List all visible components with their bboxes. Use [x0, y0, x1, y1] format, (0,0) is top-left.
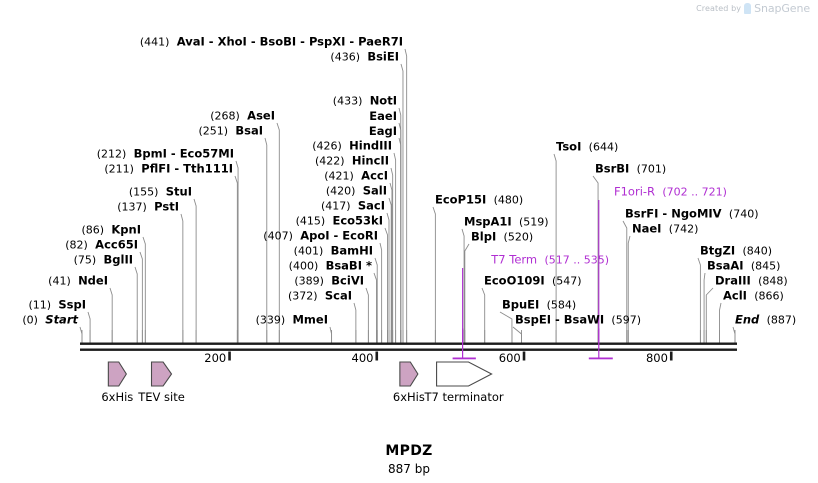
feature-arrow-6xhis-2[interactable] [400, 362, 418, 386]
restriction-site-label-bsrbi[interactable]: BsrBI (701) [595, 163, 666, 176]
enzyme-name: PstI [154, 200, 179, 214]
restriction-site-label-stui[interactable]: (155) StuI [129, 186, 192, 199]
enzyme-name: SalI [363, 184, 387, 198]
enzyme-name: HincII [352, 154, 389, 168]
enzyme-name: BsrBI [595, 162, 629, 176]
enzyme-name: ScaI [325, 289, 352, 303]
enzyme-name: StuI [166, 185, 192, 199]
feature-arrow-6xhis-1[interactable] [108, 362, 126, 386]
leader-line-naei [628, 236, 630, 343]
feature-range: (702 .. 721) [662, 186, 727, 199]
enzyme-name: MspA1I [464, 215, 512, 229]
leader-line-kpni [143, 237, 145, 343]
site-position: (433) [333, 95, 363, 108]
enzyme-name: BlpI [471, 230, 496, 244]
site-position: (436) [330, 51, 360, 64]
restriction-site-label-btgzi[interactable]: BtgZI (840) [700, 245, 772, 258]
site-position: (740) [729, 208, 759, 221]
ruler-tick-200 [228, 352, 231, 361]
enzyme-name: PaeR7I [358, 35, 403, 49]
enzyme-name: AseI [247, 109, 275, 123]
leader-line-bspei [513, 327, 522, 343]
site-position: (597) [611, 314, 641, 327]
site-position: (75) [74, 254, 97, 267]
leader-line-ecop15i [433, 207, 435, 343]
leader-line-blpi [465, 244, 469, 343]
site-position: (547) [552, 275, 582, 288]
enzyme-name: SspI [58, 298, 86, 312]
backbone-bottom-strand [80, 349, 737, 351]
leader-line-bsiei [401, 64, 403, 343]
site-position: (701) [637, 163, 667, 176]
restriction-site-label-tsoi[interactable]: TsoI (644) [556, 141, 618, 154]
site-position: (211) [104, 163, 134, 176]
restriction-site-label-eaei[interactable]: EaeI [369, 110, 397, 122]
leader-line-avai [405, 49, 407, 343]
site-position: (480) [494, 194, 524, 207]
enzyme-name: EcoP15I [435, 193, 486, 207]
enzyme-name: Start [45, 313, 78, 327]
enzyme-separator: - [205, 35, 218, 49]
site-position: (407) [263, 230, 293, 243]
enzyme-name: BciVI [331, 274, 364, 288]
enzyme-name: SacI [358, 199, 385, 213]
leader-line-bpuei [500, 312, 512, 343]
backbone-top-strand [80, 343, 737, 345]
restriction-site-label-blpi[interactable]: BlpI (520) [471, 231, 533, 244]
restriction-site-label-bcivi[interactable]: (389) BciVI [294, 275, 364, 288]
restriction-site-label-hincii[interactable]: (422) HincII [315, 155, 389, 168]
restriction-site-label-avai[interactable]: (441) AvaI - XhoI - BsoBI - PspXI - PaeR… [140, 36, 403, 49]
enzyme-name: BglII [104, 253, 134, 267]
restriction-site-label-mmei[interactable]: (339) MmeI [256, 314, 328, 327]
leader-line-btgzi [698, 258, 700, 343]
ruler-label-200: 200 [204, 351, 226, 365]
enzyme-separator: - [170, 162, 183, 176]
enzyme-name: BsaAI [707, 259, 744, 273]
restriction-site-label-draiii[interactable]: DraIII (848) [715, 275, 788, 288]
site-position: (251) [198, 125, 228, 138]
site-position: (389) [294, 275, 324, 288]
restriction-site-label-bsabi[interactable]: (400) BsaBI * [289, 260, 372, 273]
enzyme-name: PspXI [309, 35, 345, 49]
ruler-tick-600 [523, 352, 526, 361]
feature-arrow-label-t7-terminator: T7 terminator [425, 390, 504, 404]
restriction-site-label-mspa1i[interactable]: MspA1I (519) [464, 216, 549, 229]
enzyme-separator: - [330, 229, 343, 243]
restriction-site-label-start[interactable]: (0) Start [22, 314, 78, 327]
restriction-site-label-bsaai[interactable]: BsaAI (845) [707, 260, 780, 273]
restriction-site-label-kpni[interactable]: (86) KpnI [81, 224, 141, 237]
site-position: (212) [97, 148, 127, 161]
construct-name: MPDZ [385, 443, 432, 459]
site-position: (420) [326, 185, 356, 198]
site-position: (845) [751, 260, 781, 273]
enzyme-name: Acc65I [95, 238, 138, 252]
enzyme-name: EcoO109I [484, 274, 545, 288]
site-position: (155) [129, 186, 159, 199]
enzyme-name: AvaI [177, 35, 205, 49]
site-position: (401) [294, 245, 324, 258]
ruler-label-400: 400 [352, 351, 374, 365]
purple-feature-bracket-t7-term[interactable] [453, 358, 476, 360]
enzyme-name: AclI [723, 289, 747, 303]
enzyme-name: BsaWI [564, 313, 604, 327]
enzyme-name: Eco57MI [180, 147, 234, 161]
enzyme-name: BtgZI [700, 244, 735, 258]
leader-line-apoi [380, 243, 382, 343]
site-position: (41) [48, 275, 71, 288]
site-position: (372) [288, 290, 318, 303]
restriction-site-label-sspi[interactable]: (11) SspI [28, 299, 86, 312]
enzyme-name: NgoMIV [671, 207, 721, 221]
site-position: (422) [315, 155, 345, 168]
enzyme-name: AccI [361, 169, 388, 183]
enzyme-name: HindIII [349, 139, 392, 153]
feature-label-t7-term[interactable]: T7 Term (517 .. 535) [491, 254, 609, 267]
enzyme-separator: - [551, 313, 564, 327]
site-position: (742) [669, 223, 699, 236]
enzyme-name: BsrFI [625, 207, 658, 221]
site-position: (82) [65, 239, 88, 252]
enzyme-name: BspEI [515, 313, 551, 327]
enzyme-name: BsoBI [260, 35, 297, 49]
enzyme-name: NdeI [78, 274, 108, 288]
restriction-site-label-asei[interactable]: (268) AseI [210, 110, 275, 123]
enzyme-name: TsoI [556, 140, 581, 154]
enzyme-name: Eco53kI [332, 214, 383, 228]
ruler-label-600: 600 [499, 351, 521, 365]
restriction-site-label-noti[interactable]: (433) NotI [333, 95, 397, 108]
enzyme-name: NaeI [632, 222, 661, 236]
feature-name: T7 Term [491, 253, 537, 267]
enzyme-name: NotI [370, 94, 397, 108]
restriction-site-label-ndei[interactable]: (41) NdeI [48, 275, 108, 288]
restriction-site-label-eco53ki[interactable]: (415) Eco53kI [296, 215, 383, 228]
site-position: (11) [28, 299, 51, 312]
enzyme-name: BsiEI [367, 50, 399, 64]
leader-line-stui [194, 199, 196, 343]
enzyme-name: BpmI [134, 147, 167, 161]
enzyme-name: KpnI [111, 223, 141, 237]
leader-line-pflfi [235, 176, 237, 343]
ruler-tick-400 [375, 352, 378, 361]
site-position: (426) [312, 140, 342, 153]
restriction-site-label-naei[interactable]: NaeI (742) [632, 223, 698, 236]
restriction-site-label-aclii[interactable]: AclI (866) [723, 290, 784, 303]
site-position: (887) [767, 314, 797, 327]
feature-name: F1ori-R [614, 185, 655, 199]
restriction-site-label-bspei[interactable]: BspEI - BsaWI (597) [515, 314, 641, 327]
site-position: (400) [289, 260, 319, 273]
enzyme-separator: - [247, 35, 260, 49]
enzyme-name: EagI [369, 124, 397, 138]
leader-line-psti [181, 214, 183, 343]
leader-line-draiii [706, 288, 713, 343]
enzyme-name: ApoI [300, 229, 329, 243]
ruler-tick-800 [670, 352, 673, 361]
enzyme-separator: - [658, 207, 671, 221]
feature-label-f1ori-r[interactable]: F1ori-R (702 .. 721) [614, 186, 727, 199]
restriction-site-label-bpmi[interactable]: (212) BpmI - Eco57MI [97, 148, 234, 161]
site-position: (268) [210, 110, 240, 123]
enzyme-separator: - [345, 35, 358, 49]
enzyme-separator: - [167, 147, 180, 161]
restriction-site-label-bglii[interactable]: (75) BglII [74, 254, 133, 267]
enzyme-name: BamHI [331, 244, 373, 258]
site-position: (417) [321, 200, 351, 213]
restriction-site-label-bsrfi[interactable]: BsrFI - NgoMIV (740) [625, 208, 759, 221]
ruler-label-800: 800 [646, 351, 668, 365]
site-position: (421) [324, 170, 354, 183]
restriction-site-label-acc65i[interactable]: (82) Acc65I [65, 239, 138, 252]
restriction-site-label-hindiii[interactable]: (426) HindIII [312, 140, 392, 153]
feature-arrow-t7-terminator[interactable] [437, 362, 492, 386]
restriction-site-label-pflfi[interactable]: (211) PflFI - Tth111I [104, 163, 233, 176]
restriction-site-label-ecop15i[interactable]: EcoP15I (480) [435, 194, 523, 207]
site-position: (840) [742, 245, 772, 258]
site-position: (848) [758, 275, 788, 288]
site-position: (644) [589, 141, 619, 154]
enzyme-name: EcoRI [342, 229, 378, 243]
restriction-site-label-psti[interactable]: (137) PstI [117, 201, 179, 214]
leader-line-acc65i [140, 252, 142, 343]
feature-arrow-label-6xhis-1: 6xHis [101, 390, 133, 404]
restriction-site-label-sali[interactable]: (420) SalI [326, 185, 387, 198]
site-position: (441) [140, 36, 170, 49]
restriction-site-label-acci[interactable]: (421) AccI [324, 170, 388, 183]
feature-arrow-tev-site[interactable] [152, 362, 172, 386]
restriction-site-label-eagi[interactable]: EagI [369, 125, 397, 137]
site-position: (339) [256, 314, 286, 327]
enzyme-name: Tth111I [183, 162, 233, 176]
enzyme-name: PflFI [141, 162, 170, 176]
site-position: (866) [754, 290, 784, 303]
site-position: (415) [296, 215, 326, 228]
restriction-site-label-bamhi[interactable]: (401) BamHI [294, 245, 373, 258]
restriction-site-label-bpuei[interactable]: BpuEI (584) [502, 299, 576, 312]
restriction-site-label-apoi[interactable]: (407) ApoI - EcoRI [263, 230, 378, 243]
enzyme-name: EaeI [369, 109, 397, 123]
site-position: (584) [547, 299, 577, 312]
leader-line-hindiii [394, 153, 396, 343]
restriction-site-label-end[interactable]: End (887) [735, 314, 796, 327]
enzyme-name: MmeI [292, 313, 328, 327]
restriction-site-label-ecoo109i[interactable]: EcoO109I (547) [484, 275, 582, 288]
feature-arrow-label-tev-site: TEV site [138, 390, 185, 404]
restriction-site-label-bsiei[interactable]: (436) BsiEI [330, 51, 399, 64]
enzyme-name: End [735, 313, 759, 327]
leader-line-eco53ki [385, 228, 388, 343]
map-title: MPDZ 887 bp [385, 443, 432, 476]
purple-feature-bracket-f1ori-r[interactable] [589, 358, 613, 360]
site-position: (520) [504, 231, 534, 244]
restriction-site-label-saci[interactable]: (417) SacI [321, 200, 385, 213]
site-position: (86) [81, 224, 104, 237]
enzyme-name: BsaBI * [326, 259, 372, 273]
enzyme-separator: - [296, 35, 309, 49]
enzyme-name: BpuEI [502, 298, 539, 312]
enzyme-name: BsaI [235, 124, 263, 138]
feature-arrow-label-6xhis-2: 6xHis [393, 390, 425, 404]
construct-length: 887 bp [385, 462, 432, 476]
enzyme-name: XhoI [218, 35, 247, 49]
site-position: (137) [117, 201, 147, 214]
restriction-site-label-bsai[interactable]: (251) BsaI [198, 125, 263, 138]
site-position: (519) [519, 216, 549, 229]
site-position: (0) [22, 314, 38, 327]
feature-range: (517 .. 535) [544, 254, 609, 267]
restriction-site-label-scai[interactable]: (372) ScaI [288, 290, 352, 303]
enzyme-name: DraIII [715, 274, 751, 288]
